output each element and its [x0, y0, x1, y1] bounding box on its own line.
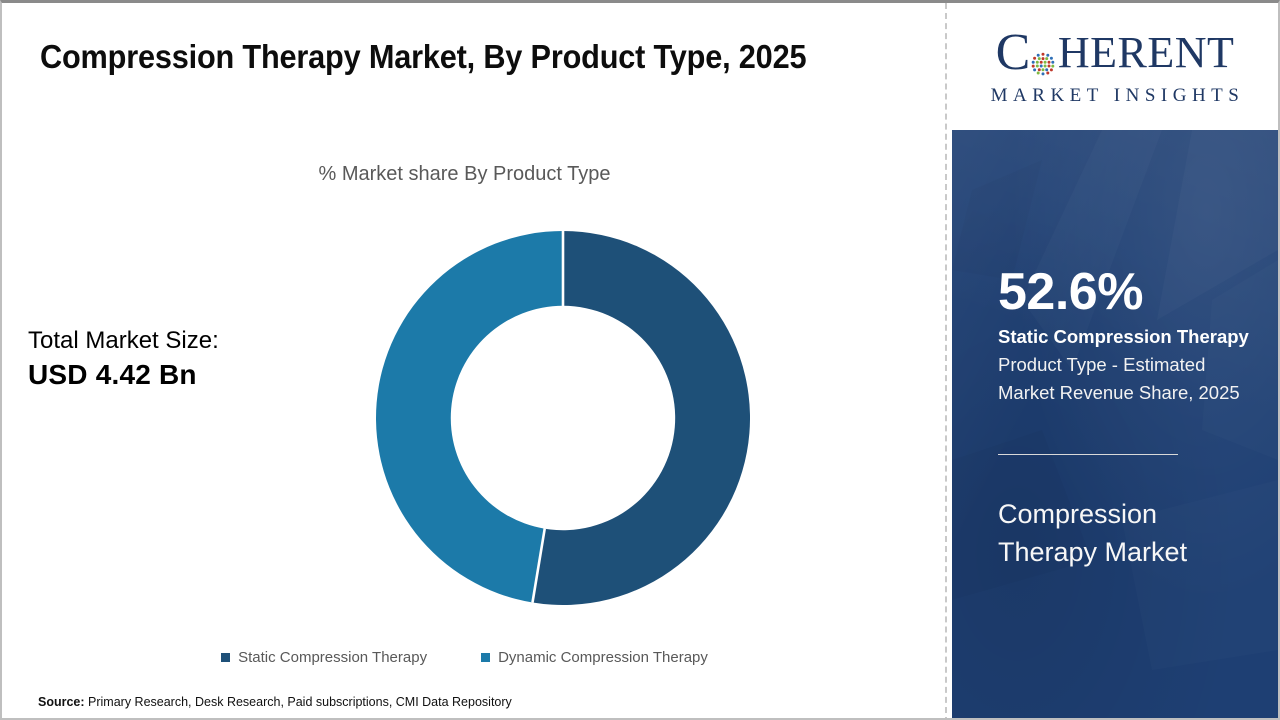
legend-label: Static Compression Therapy: [238, 649, 427, 666]
legend-swatch-icon: [481, 653, 490, 662]
donut-slice-static-compression-therapy[interactable]: [533, 231, 750, 605]
highlight-panel: 52.6% Static Compression Therapy Product…: [952, 130, 1278, 718]
stat-highlight-segment: Static Compression Therapy: [998, 326, 1249, 347]
legend-item-dynamic-compression-therapy[interactable]: Dynamic Compression Therapy: [481, 649, 708, 666]
donut-slice-dynamic-compression-therapy[interactable]: [376, 231, 563, 603]
total-market-size-block: Total Market Size: USD 4.42 Bn: [28, 325, 219, 394]
brand-logo[interactable]: C: [952, 3, 1278, 130]
stat-description-segment: Product Type - Estimated Market Revenue …: [998, 354, 1240, 403]
legend-swatch-icon: [221, 653, 230, 662]
total-market-size-value: USD 4.42 Bn: [28, 356, 219, 394]
globe-dots-icon: [1029, 42, 1057, 70]
source-text: Primary Research, Desk Research, Paid su…: [85, 695, 512, 709]
donut-chart-svg: [376, 231, 750, 605]
logo-tagline: MARKET INSIGHTS: [986, 85, 1245, 107]
legend-label: Dynamic Compression Therapy: [498, 649, 708, 666]
donut-label-dynamic: xx.x%: [759, 629, 800, 645]
chart-legend: Static Compression Therapy Dynamic Compr…: [2, 649, 927, 666]
logo-letter-c: C: [996, 27, 1031, 79]
logo-wordmark: C: [996, 27, 1235, 79]
source-note: Source: Primary Research, Desk Research,…: [38, 695, 512, 709]
infographic-root: Compression Therapy Market, By Product T…: [0, 0, 1280, 720]
vertical-dashed-divider: [945, 3, 947, 720]
page-title: Compression Therapy Market, By Product T…: [40, 33, 849, 81]
stat-description: Static Compression Therapy Product Type …: [998, 323, 1250, 407]
donut-chart: 52.6% xx.x%: [376, 231, 750, 605]
panel-background-texture-icon: [952, 130, 1278, 718]
chart-subtitle: % Market share By Product Type: [2, 163, 927, 186]
total-market-size-label: Total Market Size:: [28, 325, 219, 356]
panel-divider: [998, 454, 1178, 455]
legend-item-static-compression-therapy[interactable]: Static Compression Therapy: [221, 649, 427, 666]
stat-percentage: 52.6%: [998, 266, 1143, 318]
source-label: Source:: [38, 695, 85, 709]
panel-market-name: Compression Therapy Market: [998, 495, 1248, 572]
logo-letters-herent: HERENT: [1058, 31, 1235, 75]
